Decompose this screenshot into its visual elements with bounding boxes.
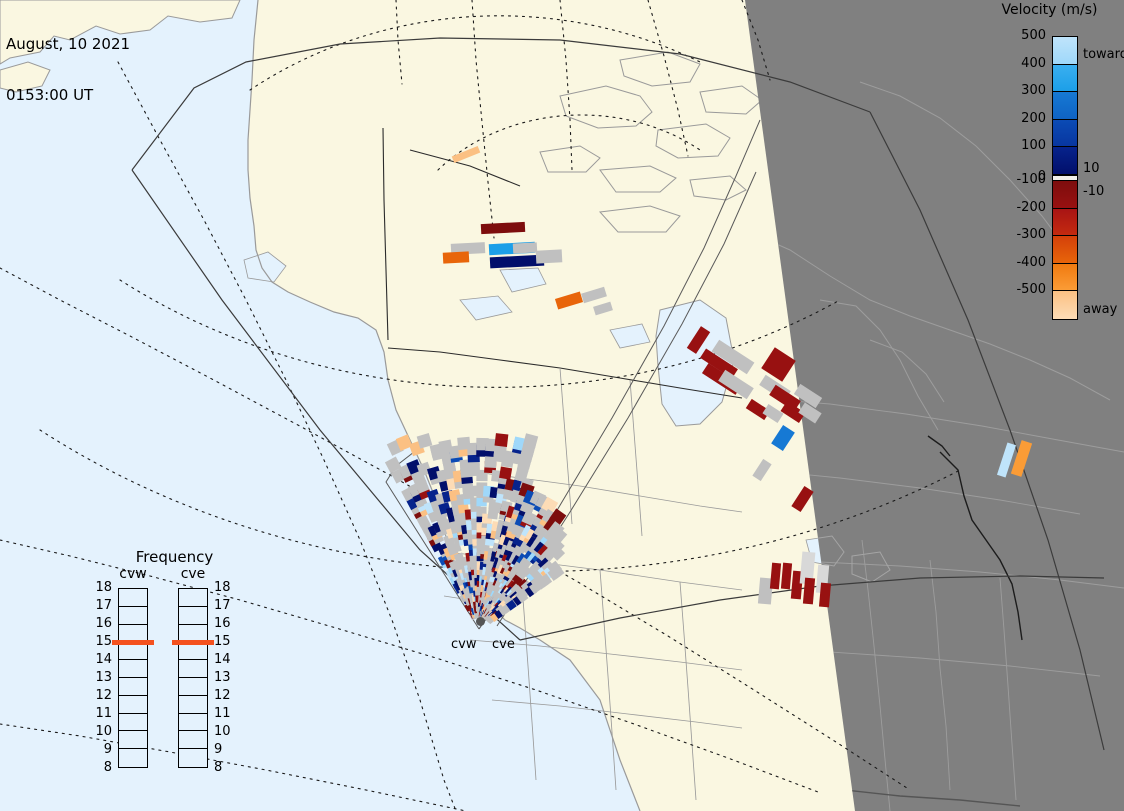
gauge-cell <box>119 607 147 625</box>
gauge-tick-cvw-9: 9 <box>90 742 112 757</box>
timestamp-block: August, 10 2021 0153:00 UT <box>6 2 130 138</box>
colorbar-plus-ten-label: 10 <box>1083 161 1100 176</box>
colorbar-away-label: away <box>1083 302 1117 317</box>
gauge-tick-cve-9: 9 <box>214 742 236 757</box>
gauge-cell <box>119 714 147 732</box>
gauge-name-cvw: cvw <box>113 566 153 582</box>
gauge-tick-cvw-18: 18 <box>90 580 112 595</box>
colorbar-cell-toward-200 <box>1053 120 1077 148</box>
gauge-cell <box>179 749 207 767</box>
gauge-tick-cvw-14: 14 <box>90 652 112 667</box>
gauge-cell <box>179 660 207 678</box>
colorbar-tick--100: -100 <box>998 172 1046 187</box>
velocity-cell[interactable] <box>819 583 831 608</box>
colorbar-cell-away--400 <box>1053 264 1077 292</box>
gauge-tick-cvw-13: 13 <box>90 670 112 685</box>
colorbar-tick--400: -400 <box>998 255 1046 270</box>
gauge-cell <box>119 696 147 714</box>
colorbar-title: Velocity (m/s) <box>975 2 1124 18</box>
colorbar-tick--500: -500 <box>998 282 1046 297</box>
radar-site-label-cve[interactable]: cve <box>492 637 515 652</box>
gauge-cell <box>179 607 207 625</box>
colorbar-toward-label: toward <box>1083 47 1124 62</box>
frequency-gauge-cvw[interactable] <box>118 588 148 768</box>
gauge-tick-cvw-16: 16 <box>90 616 112 631</box>
gauge-tick-cve-18: 18 <box>214 580 236 595</box>
gauge-cell <box>119 749 147 767</box>
velocity-cell[interactable] <box>499 467 512 480</box>
gauge-tick-cve-15: 15 <box>214 634 236 649</box>
gauge-cell <box>179 714 207 732</box>
gauge-cell <box>179 696 207 714</box>
gauge-cell <box>179 731 207 749</box>
gauge-marker-cvw <box>112 640 154 645</box>
velocity-cell[interactable] <box>443 251 470 263</box>
gauge-tick-cve-8: 8 <box>214 760 236 775</box>
gauge-tick-cve-14: 14 <box>214 652 236 667</box>
gauge-cell <box>119 642 147 660</box>
gauge-name-cve: cve <box>173 566 213 582</box>
gauge-tick-cve-17: 17 <box>214 598 236 613</box>
gauge-tick-cvw-15: 15 <box>90 634 112 649</box>
frequency-title: Frequency <box>92 548 257 566</box>
gauge-cell <box>119 731 147 749</box>
colorbar-cell-toward-100 <box>1053 147 1077 175</box>
colorbar-cell-away--300 <box>1053 236 1077 264</box>
radar-map-page: August, 10 2021 0153:00 UT Velocity (m/s… <box>0 0 1124 811</box>
frequency-gauge-cve[interactable] <box>178 588 208 768</box>
gauge-tick-cvw-17: 17 <box>90 598 112 613</box>
colorbar-tick--300: -300 <box>998 227 1046 242</box>
velocity-cell[interactable] <box>513 242 537 253</box>
velocity-cell[interactable] <box>536 249 563 263</box>
colorbar-cell-toward-500 <box>1053 37 1077 65</box>
colorbar-strip[interactable] <box>1052 36 1078 320</box>
gauge-cell <box>179 678 207 696</box>
gauge-tick-cve-10: 10 <box>214 724 236 739</box>
colorbar-tick-400: 400 <box>998 56 1046 71</box>
colorbar-cell-away--200 <box>1053 209 1077 237</box>
colorbar-cell-toward-400 <box>1053 65 1077 93</box>
gauge-tick-cve-16: 16 <box>214 616 236 631</box>
velocity-cell[interactable] <box>495 433 509 447</box>
gauge-cell <box>179 642 207 660</box>
gauge-tick-cvw-10: 10 <box>90 724 112 739</box>
gauge-cell <box>119 678 147 696</box>
gauge-tick-cvw-11: 11 <box>90 706 112 721</box>
radar-site-label-cvw[interactable]: cvw <box>451 637 476 652</box>
gauge-cell <box>119 589 147 607</box>
colorbar-tick--200: -200 <box>998 200 1046 215</box>
gauge-tick-cvw-12: 12 <box>90 688 112 703</box>
colorbar-cell-away--100 <box>1053 181 1077 209</box>
gauge-tick-cvw-8: 8 <box>90 760 112 775</box>
gauge-cell <box>119 660 147 678</box>
gauge-marker-cve <box>172 640 214 645</box>
time-label: 0153:00 UT <box>6 87 130 104</box>
date-label: August, 10 2021 <box>6 36 130 53</box>
colorbar-cell-away--500 <box>1053 291 1077 319</box>
radar-site-marker[interactable] <box>476 617 485 626</box>
colorbar-tick-100: 100 <box>998 138 1046 153</box>
colorbar-tick-200: 200 <box>998 111 1046 126</box>
gauge-tick-cve-12: 12 <box>214 688 236 703</box>
gauge-tick-cve-11: 11 <box>214 706 236 721</box>
colorbar-cell-toward-300 <box>1053 92 1077 120</box>
colorbar-minus-ten-label: -10 <box>1083 184 1104 199</box>
gauge-tick-cve-13: 13 <box>214 670 236 685</box>
gauge-cell <box>179 589 207 607</box>
colorbar-tick-300: 300 <box>998 83 1046 98</box>
colorbar-tick-500: 500 <box>998 28 1046 43</box>
